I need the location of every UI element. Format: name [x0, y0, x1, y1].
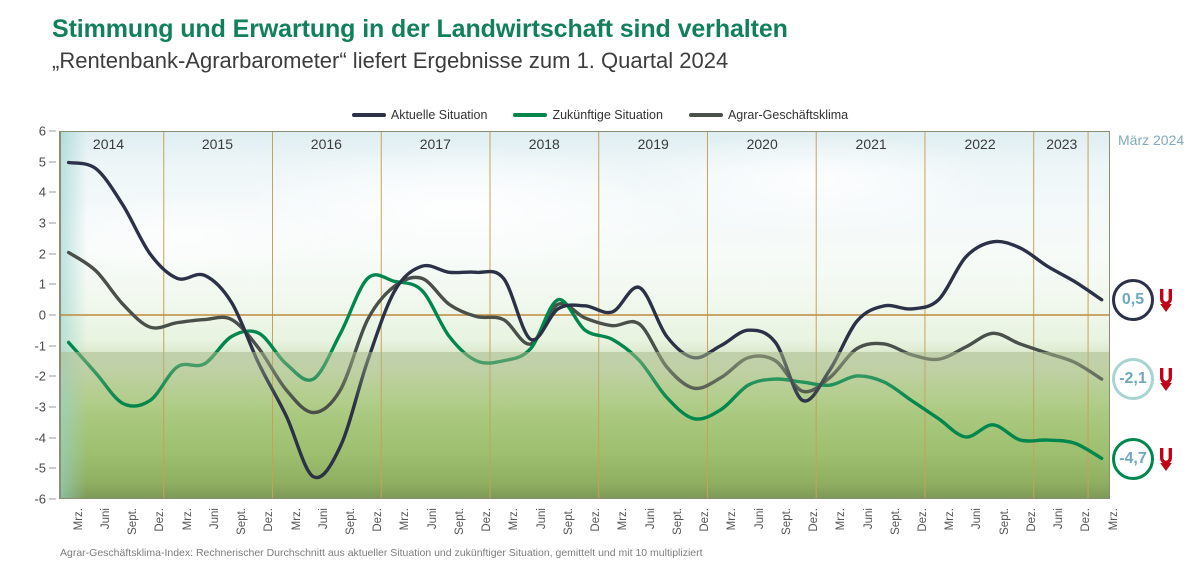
x-axis-tick-label: Dez.: [154, 508, 166, 532]
y-axis-tick-label: -5: [34, 461, 46, 476]
legend-item-0[interactable]: Aktuelle Situation: [352, 108, 488, 122]
end-value-bubble: -4,7: [1112, 438, 1154, 480]
y-axis-tick-mark: [49, 499, 56, 500]
end-value-agrar-geschaeftsklima: -2,1: [1112, 358, 1176, 400]
trend-down-arrow-icon: [1156, 287, 1176, 313]
x-axis-tick-label: Juni: [1053, 508, 1065, 529]
x-axis-tick-label: Mrz.: [399, 508, 411, 530]
agrarbarometer-chart-page: Stimmung und Erwartung in der Landwirtsc…: [0, 0, 1200, 586]
x-axis-tick-label: Mrz.: [291, 508, 303, 530]
series-line-1: [69, 275, 1102, 458]
y-axis-tick-mark: [49, 468, 56, 469]
page-subtitle: „Rentenbank-Agrarbarometer“ liefert Erge…: [52, 47, 1152, 75]
x-axis-tick-label: Dez.: [699, 508, 711, 532]
y-axis-tick-label: 1: [39, 277, 46, 292]
x-axis-tick-label: Sept.: [236, 508, 248, 535]
x-axis-tick-label: Mrz.: [835, 508, 847, 530]
y-axis-tick-mark: [49, 161, 56, 162]
y-axis-tick-label: -1: [34, 338, 46, 353]
x-axis-tick-label: Sept.: [454, 508, 466, 535]
period-label: März 2024: [1118, 132, 1184, 148]
header: Stimmung und Erwartung in der Landwirtsc…: [52, 14, 1152, 75]
legend-label: Aktuelle Situation: [391, 108, 488, 122]
legend-swatch-icon: [352, 113, 386, 117]
y-axis-tick-label: -6: [34, 492, 46, 507]
y-axis-tick-mark: [49, 131, 56, 132]
trend-down-arrow-icon: [1156, 446, 1176, 472]
x-axis-tick-label: Dez.: [263, 508, 275, 532]
x-axis-tick-label: Dez.: [808, 508, 820, 532]
year-label-2019: 2019: [599, 136, 708, 153]
series-line-0: [69, 163, 1102, 478]
x-axis-tick-label: Dez.: [481, 508, 493, 532]
y-axis-tick-mark: [49, 223, 56, 224]
year-labels: 2014201520162017201820192020202120222023: [60, 131, 1110, 177]
y-axis-tick-label: -3: [34, 400, 46, 415]
y-axis-tick-label: 3: [39, 216, 46, 231]
x-axis-tick-label: Sept.: [672, 508, 684, 535]
year-label-2014: 2014: [54, 136, 163, 153]
x-axis-tick-label: Mrz.: [726, 508, 738, 530]
y-axis-tick-label: 2: [39, 246, 46, 261]
y-axis-tick-label: 0: [39, 308, 46, 323]
x-axis-tick-label: Sept.: [345, 508, 357, 535]
y-axis-tick-label: 5: [39, 154, 46, 169]
legend-swatch-icon: [513, 113, 547, 117]
trend-down-arrow-icon: [1156, 366, 1176, 392]
y-axis-tick-mark: [49, 407, 56, 408]
year-label-2015: 2015: [163, 136, 272, 153]
y-axis: 6543210-1-2-3-4-5-6: [0, 125, 60, 505]
x-axis-tick-label: Sept.: [127, 508, 139, 535]
end-value-aktuelle-situation: 0,5: [1112, 279, 1176, 321]
series-line-2: [69, 252, 1102, 412]
x-axis-tick-label: Juni: [100, 508, 112, 529]
x-axis-tick-label: Juni: [645, 508, 657, 529]
y-axis-tick-mark: [49, 376, 56, 377]
y-axis-tick-mark: [49, 253, 56, 254]
y-axis-tick-mark: [49, 315, 56, 316]
x-axis-tick-label: Dez.: [1080, 508, 1092, 532]
chart-area: 6543210-1-2-3-4-5-6 20142015201620172018…: [0, 125, 1200, 505]
y-axis-tick-mark: [49, 192, 56, 193]
year-label-2018: 2018: [490, 136, 599, 153]
year-label-2023: 2023: [1035, 136, 1089, 153]
x-axis-tick-label: Juni: [754, 508, 766, 529]
year-label-2016: 2016: [272, 136, 381, 153]
legend-label: Zukünftige Situation: [552, 108, 663, 122]
legend-item-2[interactable]: Agrar-Geschäftsklima: [689, 108, 848, 122]
x-axis-tick-label: Dez.: [1026, 508, 1038, 532]
plot-area: [60, 131, 1110, 499]
end-value-zukuenftige-situation: -4,7: [1112, 438, 1176, 480]
x-axis-tick-label: Dez.: [917, 508, 929, 532]
x-axis-tick-label: Juni: [971, 508, 983, 529]
y-axis-tick-label: 6: [39, 124, 46, 139]
x-axis-tick-label: Juni: [427, 508, 439, 529]
series-lines: [61, 132, 1109, 498]
year-label-2017: 2017: [381, 136, 490, 153]
x-axis-tick-label: Dez.: [372, 508, 384, 532]
x-axis-tick-label: Juni: [863, 508, 875, 529]
y-axis-tick-label: 4: [39, 185, 46, 200]
x-axis-tick-label: Sept.: [563, 508, 575, 535]
x-axis-tick-label: Mrz.: [73, 508, 85, 530]
x-axis-tick-label: Juni: [318, 508, 330, 529]
end-value-bubble: -2,1: [1112, 358, 1154, 400]
x-axis-tick-label: Juni: [209, 508, 221, 529]
y-axis-tick-label: -2: [34, 369, 46, 384]
x-axis-tick-label: Dez.: [590, 508, 602, 532]
year-label-2021: 2021: [817, 136, 926, 153]
x-axis-tick-label: Mrz.: [1108, 508, 1120, 530]
end-value-bubble: 0,5: [1112, 279, 1154, 321]
page-title: Stimmung und Erwartung in der Landwirtsc…: [52, 14, 1152, 44]
chart-footnote: Agrar-Geschäftsklima-Index: Rechnerische…: [60, 547, 703, 559]
x-axis-tick-label: Mrz.: [944, 508, 956, 530]
y-axis-tick-mark: [49, 437, 56, 438]
x-axis-tick-label: Sept.: [890, 508, 902, 535]
legend-swatch-icon: [689, 113, 723, 117]
x-axis-tick-label: Sept.: [999, 508, 1011, 535]
y-axis-tick-mark: [49, 345, 56, 346]
legend-label: Agrar-Geschäftsklima: [728, 108, 848, 122]
x-axis-tick-label: Mrz.: [182, 508, 194, 530]
chart-legend: Aktuelle SituationZukünftige SituationAg…: [0, 108, 1200, 122]
year-label-2020: 2020: [708, 136, 817, 153]
x-axis-tick-label: Mrz.: [508, 508, 520, 530]
x-axis-tick-label: Mrz.: [617, 508, 629, 530]
year-label-2022: 2022: [926, 136, 1035, 153]
legend-item-1[interactable]: Zukünftige Situation: [513, 108, 663, 122]
y-axis-tick-label: -4: [34, 430, 46, 445]
x-axis-tick-label: Juni: [536, 508, 548, 529]
x-axis-tick-label: Sept.: [781, 508, 793, 535]
y-axis-tick-mark: [49, 284, 56, 285]
